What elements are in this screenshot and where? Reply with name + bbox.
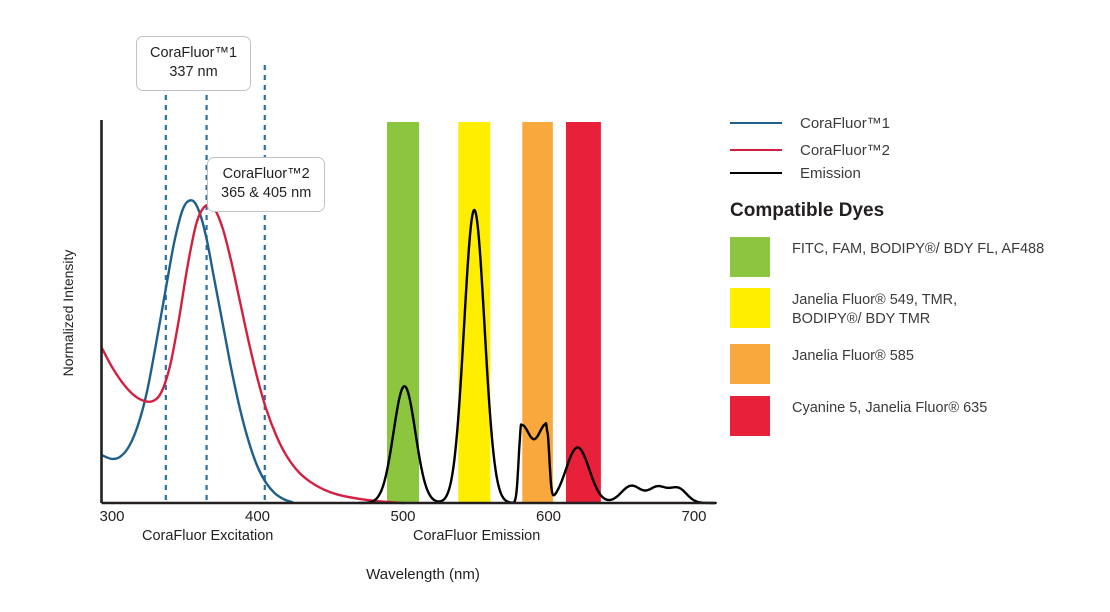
dye-color-swatch xyxy=(730,288,770,328)
y-axis-title: Normalized Intensity xyxy=(60,213,76,413)
line-legend-item-2: Emission xyxy=(730,162,861,184)
line-legend-label: Emission xyxy=(800,165,861,182)
callout-1-line2: 337 nm xyxy=(150,63,237,82)
x-axis-title: Wavelength (nm) xyxy=(283,566,563,583)
region-label-excitation: CoraFluor Excitation xyxy=(142,528,273,544)
line-legend-label: CoraFluor™1 xyxy=(800,115,890,132)
dye-color-swatch xyxy=(730,237,770,277)
line-swatch-icon xyxy=(730,122,782,124)
callout-2-line2: 365 & 405 nm xyxy=(221,184,311,203)
x-tick-700: 700 xyxy=(664,508,724,525)
chart-figure: CoraFluor™1 337 nm CoraFluor™2 365 & 405… xyxy=(0,0,1110,612)
dye-legend-label: FITC, FAM, BODIPY®/ BDY FL, AF488 xyxy=(792,237,1044,259)
dye-legend-item-2: Janelia Fluor® 585 xyxy=(730,344,914,384)
line-legend-item-1: CoraFluor™2 xyxy=(730,139,890,161)
plot-area: CoraFluor™1 337 nm CoraFluor™2 365 & 405… xyxy=(0,0,730,612)
dye-legend-label: Janelia Fluor® 585 xyxy=(792,344,914,366)
callout-1-line1: CoraFluor™1 xyxy=(150,44,237,63)
curve-corafluor2 xyxy=(102,205,403,503)
dye-color-swatch xyxy=(730,396,770,436)
callout-corafluor2: CoraFluor™2 365 & 405 nm xyxy=(207,157,325,212)
dye-legend-label: Cyanine 5, Janelia Fluor® 635 xyxy=(792,396,987,418)
line-legend-item-0: CoraFluor™1 xyxy=(730,112,890,134)
line-swatch-icon xyxy=(730,149,782,151)
x-tick-400: 400 xyxy=(228,508,288,525)
x-tick-500: 500 xyxy=(373,508,433,525)
legend-panel: CoraFluor™1CoraFluor™2Emission Compatibl… xyxy=(730,0,1110,612)
dye-legend-item-3: Cyanine 5, Janelia Fluor® 635 xyxy=(730,396,987,436)
region-label-emission: CoraFluor Emission xyxy=(413,528,540,544)
compatible-dyes-title: Compatible Dyes xyxy=(730,200,884,222)
yellow-band xyxy=(458,122,490,503)
dye-legend-item-1: Janelia Fluor® 549, TMR, BODIPY®/ BDY TM… xyxy=(730,288,957,330)
callout-2-line1: CoraFluor™2 xyxy=(221,165,311,184)
callout-corafluor1: CoraFluor™1 337 nm xyxy=(136,36,251,91)
dye-legend-label: Janelia Fluor® 549, TMR, BODIPY®/ BDY TM… xyxy=(792,288,957,330)
red-band xyxy=(566,122,601,503)
dye-legend-item-0: FITC, FAM, BODIPY®/ BDY FL, AF488 xyxy=(730,237,1044,277)
x-tick-600: 600 xyxy=(519,508,579,525)
line-swatch-icon xyxy=(730,172,782,174)
line-legend-label: CoraFluor™2 xyxy=(800,142,890,159)
dye-color-swatch xyxy=(730,344,770,384)
x-tick-300: 300 xyxy=(82,508,142,525)
